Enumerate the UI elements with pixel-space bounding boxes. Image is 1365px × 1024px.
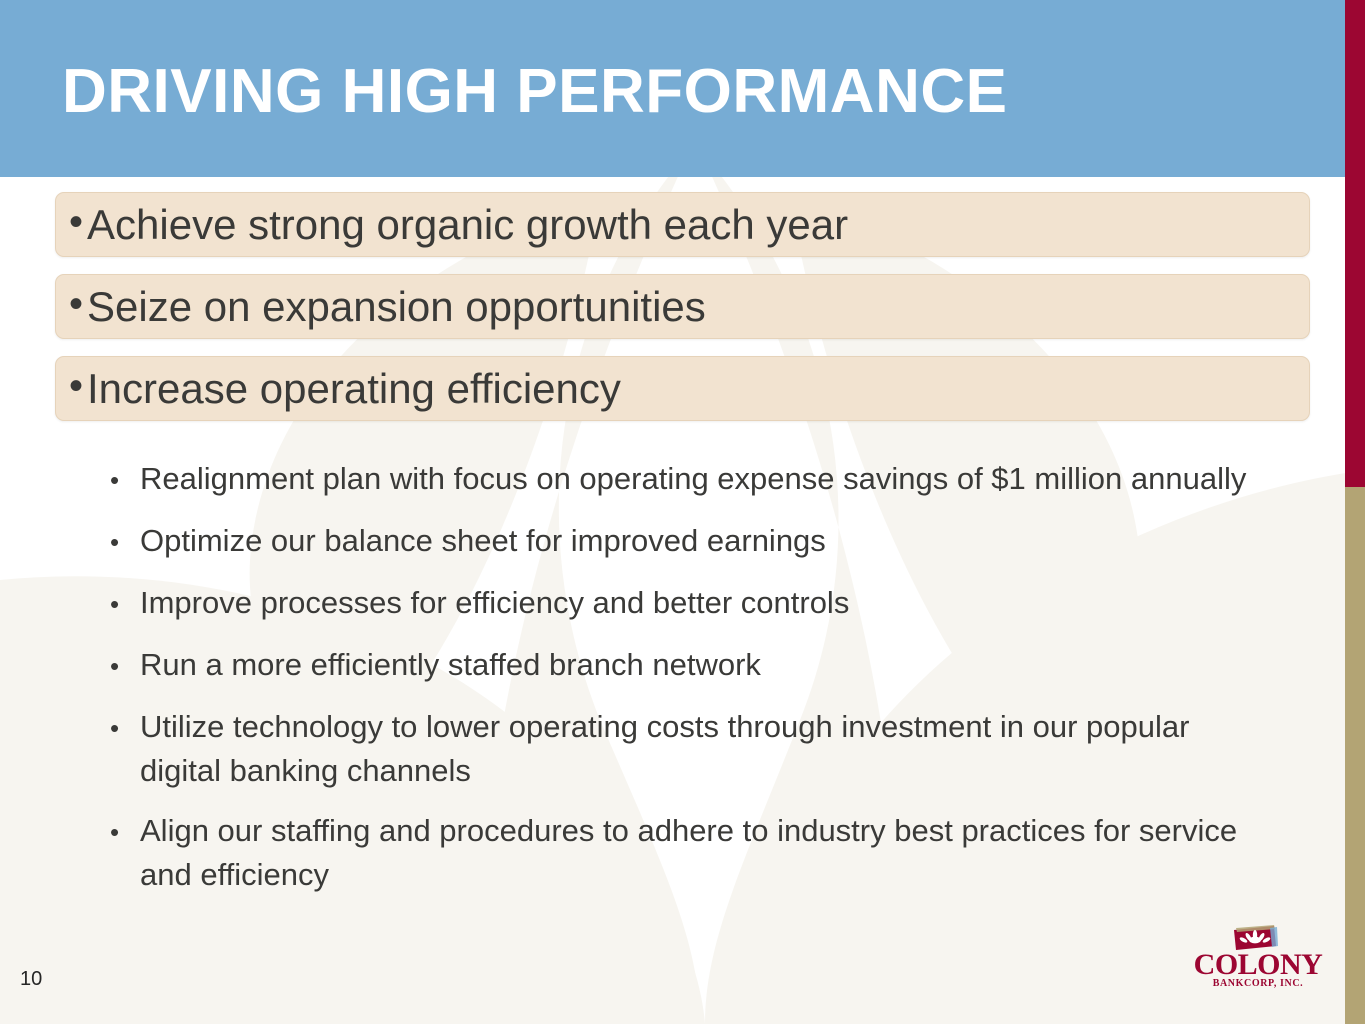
main-point-label: Seize on expansion opportunities [87,283,706,331]
page-number: 10 [20,968,42,991]
sub-point-item: • Run a more efficiently staffed branch … [110,643,1270,689]
bullet-glyph-icon: • [110,705,140,751]
bullet-glyph-icon: • [110,809,140,855]
sub-point-label: Realignment plan with focus on operating… [140,457,1270,501]
main-point-label: Increase operating efficiency [87,365,621,413]
sub-point-label: Utilize technology to lower operating co… [140,705,1270,793]
sub-point-label: Improve processes for efficiency and bet… [140,581,1270,625]
sub-point-item: • Improve processes for efficiency and b… [110,581,1270,627]
accent-bar-khaki [1345,487,1365,1024]
page-title: DRIVING HIGH PERFORMANCE [62,56,1007,128]
sub-point-label: Align our staffing and procedures to adh… [140,809,1270,897]
company-logo: COLONY BANKCORP, INC. [1188,924,1328,990]
bullet-glyph-icon: • [110,457,140,503]
accent-bar-crimson [1345,0,1365,487]
main-point-label: Achieve strong organic growth each year [87,201,848,249]
sub-point-item: • Align our staffing and procedures to a… [110,809,1270,897]
logo-tagline: BANKCORP, INC. [1188,978,1328,989]
sub-point-item: • Utilize technology to lower operating … [110,705,1270,793]
presentation-slide: DRIVING HIGH PERFORMANCE • Achieve stron… [0,0,1365,1024]
sub-point-item: • Optimize our balance sheet for improve… [110,519,1270,565]
bullet-glyph-icon: • [110,643,140,689]
logo-wordmark: COLONY [1188,950,1328,980]
bullet-glyph-icon: • [69,202,83,242]
bullet-glyph-icon: • [69,284,83,324]
main-point-box: • Achieve strong organic growth each yea… [55,192,1310,257]
sub-point-item: • Realignment plan with focus on operati… [110,457,1270,503]
sub-point-label: Optimize our balance sheet for improved … [140,519,1270,563]
sub-points-list: • Realignment plan with focus on operati… [110,457,1270,913]
main-points-list: • Achieve strong organic growth each yea… [55,192,1310,438]
main-point-box: • Seize on expansion opportunities [55,274,1310,339]
bullet-glyph-icon: • [110,519,140,565]
main-point-box: • Increase operating efficiency [55,356,1310,421]
bullet-glyph-icon: • [69,366,83,406]
bullet-glyph-icon: • [110,581,140,627]
sub-point-label: Run a more efficiently staffed branch ne… [140,643,1270,687]
